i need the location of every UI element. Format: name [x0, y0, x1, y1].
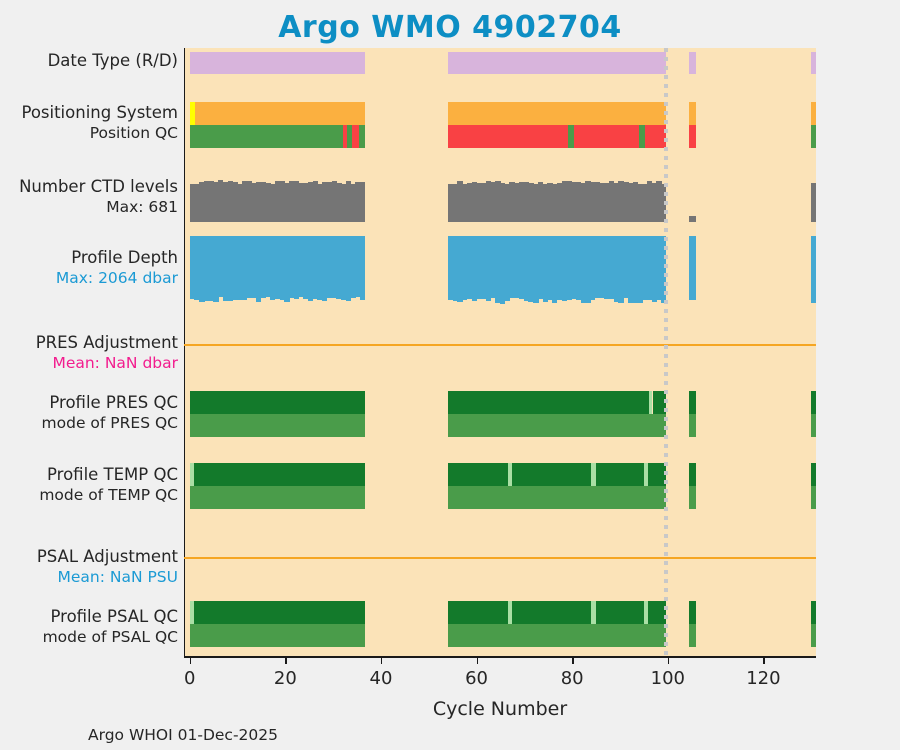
segment [689, 601, 695, 624]
segment [194, 463, 365, 486]
row-label-main: Profile PSAL QC [50, 607, 178, 626]
bar [811, 236, 816, 303]
bar [689, 236, 696, 300]
bar [811, 183, 816, 222]
segment [448, 486, 666, 509]
row-label-sub: Mean: NaN PSU [37, 567, 178, 588]
delayed-mode-boundary-line [664, 48, 668, 656]
track-mode-of-psal-qc [184, 624, 816, 647]
row-label-main: Positioning System [21, 103, 178, 122]
segment [512, 601, 591, 624]
row-label-profile-psal-qc: Profile PSAL QCmode of PSAL QC [43, 606, 178, 648]
x-tick [668, 657, 670, 664]
segment [190, 624, 365, 647]
x-tick-label: 20 [274, 668, 297, 689]
segment [689, 463, 695, 486]
row-label-sub: Position QC [21, 123, 178, 144]
x-tick-label: 100 [651, 668, 685, 689]
x-tick [572, 657, 574, 664]
bar [689, 216, 696, 222]
x-tick-label: 80 [561, 668, 584, 689]
segment [352, 125, 359, 148]
row-label-sub: Max: 2064 dbar [56, 268, 178, 289]
page-title: Argo WMO 4902704 [0, 10, 900, 45]
segment [689, 414, 695, 437]
segment [448, 463, 508, 486]
track-profile-pres-qc [184, 391, 816, 414]
row-label-pres-adjustment: PRES AdjustmentMean: NaN dbar [36, 332, 178, 374]
segment [194, 601, 365, 624]
track-mode-of-pres-qc [184, 414, 816, 437]
segment [645, 125, 666, 148]
track-mode-of-temp-qc [184, 486, 816, 509]
segment [811, 463, 816, 486]
segment [448, 601, 508, 624]
x-axis-line [184, 656, 816, 658]
track-number-ctd-levels [184, 177, 816, 222]
x-tick [190, 657, 192, 664]
segment [190, 391, 365, 414]
segment [689, 52, 695, 74]
segment [811, 391, 816, 414]
argo-float-summary-figure: Argo WMO 4902704 Date Type (R/D)Position… [0, 0, 900, 750]
row-label-psal-adjustment: PSAL AdjustmentMean: NaN PSU [37, 546, 178, 588]
segment [689, 125, 695, 148]
track-positioning-system [184, 102, 816, 125]
segment [689, 391, 695, 414]
segment [190, 52, 365, 74]
segment [811, 624, 816, 647]
segment [689, 102, 695, 125]
segment [811, 125, 816, 148]
row-label-main: PRES Adjustment [36, 333, 178, 352]
x-tick-label: 40 [370, 668, 393, 689]
row-label-main: Date Type (R/D) [48, 51, 178, 70]
x-tick [381, 657, 383, 664]
x-tick [763, 657, 765, 664]
segment [811, 486, 816, 509]
row-label-main: Profile TEMP QC [47, 465, 178, 484]
adjustment-line-pres-adjustment [184, 344, 816, 346]
segment [190, 414, 365, 437]
segment [689, 486, 695, 509]
segment [190, 125, 343, 148]
segment [811, 102, 816, 125]
segment [195, 102, 365, 125]
segment [190, 486, 365, 509]
row-label-sub: mode of PRES QC [42, 413, 178, 434]
row-label-positioning-system: Positioning SystemPosition QC [21, 102, 178, 144]
segment [448, 391, 649, 414]
row-label-main: Profile Depth [71, 248, 178, 267]
segment [596, 601, 644, 624]
segment [811, 601, 816, 624]
row-label-main: Profile PRES QC [49, 393, 178, 412]
row-label-sub: mode of TEMP QC [39, 485, 178, 506]
segment [448, 125, 568, 148]
row-label-profile-temp-qc: Profile TEMP QCmode of TEMP QC [39, 464, 178, 506]
segment [448, 624, 666, 647]
x-axis-label: Cycle Number [184, 698, 816, 720]
bar [360, 182, 365, 222]
segment [689, 624, 695, 647]
track-profile-depth [184, 236, 816, 306]
bar [360, 236, 365, 300]
x-tick-label: 120 [746, 668, 780, 689]
track-profile-psal-qc [184, 601, 816, 624]
track-position-qc [184, 125, 816, 148]
figure-credit: Argo WHOI 01-Dec-2025 [88, 726, 278, 744]
row-label-main: Number CTD levels [19, 177, 178, 196]
row-label-main: PSAL Adjustment [37, 547, 178, 566]
segment [811, 52, 816, 74]
row-label-profile-pres-qc: Profile PRES QCmode of PRES QC [42, 392, 178, 434]
row-label-profile-depth: Profile DepthMax: 2064 dbar [56, 247, 178, 289]
row-label-sub: Mean: NaN dbar [36, 353, 178, 374]
x-tick-label: 0 [184, 668, 195, 689]
adjustment-line-psal-adjustment [184, 557, 816, 559]
segment [448, 102, 666, 125]
x-tick-label: 60 [465, 668, 488, 689]
row-label-sub: mode of PSAL QC [43, 627, 178, 648]
row-label-date-type: Date Type (R/D) [48, 50, 178, 71]
segment [448, 414, 666, 437]
x-tick [477, 657, 479, 664]
track-profile-temp-qc [184, 463, 816, 486]
row-label-number-ctd-levels: Number CTD levelsMax: 681 [19, 176, 178, 218]
row-label-sub: Max: 681 [19, 197, 178, 218]
track-date-type [184, 52, 816, 74]
segment [448, 52, 666, 74]
x-tick [285, 657, 287, 664]
segment [512, 463, 591, 486]
segment [596, 463, 644, 486]
segment [811, 414, 816, 437]
segment [574, 125, 639, 148]
segment [359, 125, 365, 148]
